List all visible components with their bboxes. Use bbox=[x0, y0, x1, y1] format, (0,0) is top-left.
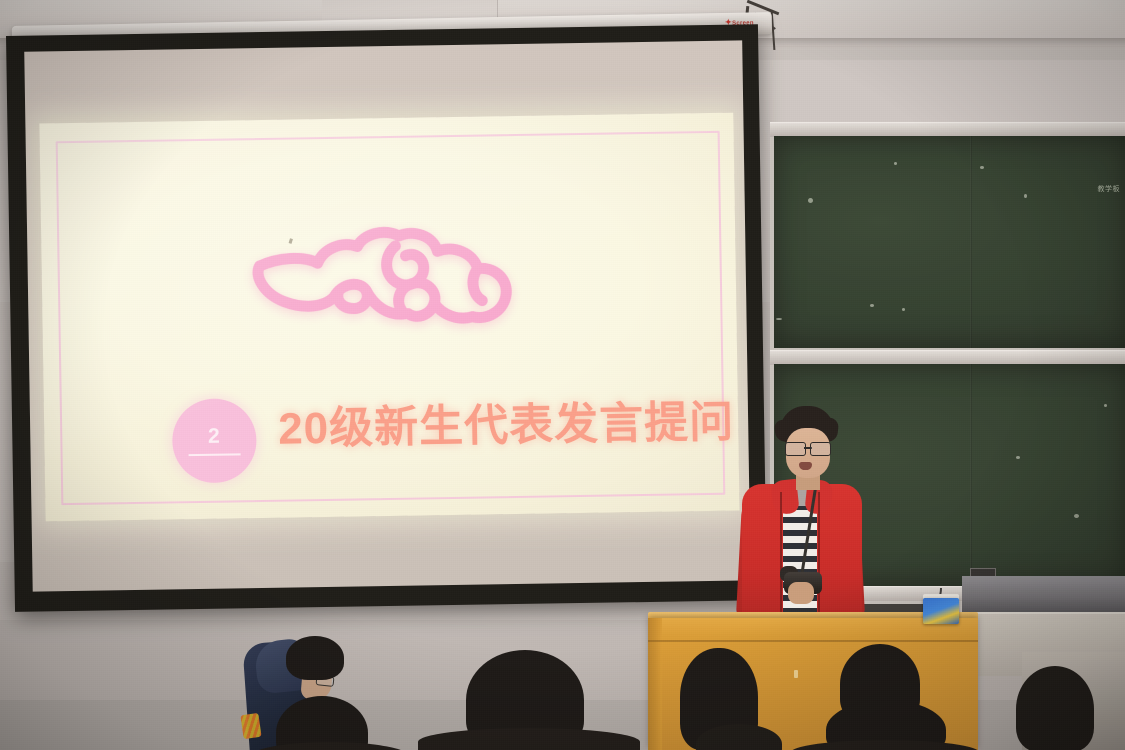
podium-fastener bbox=[794, 670, 798, 678]
blackboard-rail-top bbox=[770, 122, 1125, 137]
audience-head bbox=[286, 636, 344, 680]
audience-shoulders bbox=[418, 728, 640, 750]
classroom-photo-scene: ✦Screen bbox=[0, 0, 1125, 750]
slide-number-underline bbox=[189, 453, 241, 456]
cloud-icon bbox=[237, 220, 539, 345]
blackboard-rail-middle bbox=[770, 350, 1125, 365]
audience-head bbox=[1016, 666, 1094, 750]
blackboard-side-text: 教学板 bbox=[1098, 184, 1121, 194]
slide-title: 20级新生代表发言提问 bbox=[278, 401, 735, 452]
chalk-tray bbox=[962, 576, 1125, 616]
speaker-hand bbox=[788, 582, 814, 604]
projector-screen-surface: 2 20级新生代表发言提问 bbox=[24, 40, 750, 591]
projected-slide: 2 20级新生代表发言提问 bbox=[39, 113, 739, 522]
slide-number: 2 bbox=[208, 426, 221, 447]
audience-shoulder-patch bbox=[240, 713, 261, 739]
glasses-icon bbox=[784, 442, 832, 454]
podium-seam bbox=[648, 640, 978, 642]
projector-screen-frame: 2 20级新生代表发言提问 bbox=[6, 24, 767, 612]
blackboard-panel-upper: 教学板 bbox=[774, 136, 1125, 348]
podium-left-edge bbox=[648, 618, 662, 750]
podium-small-box bbox=[923, 598, 959, 624]
